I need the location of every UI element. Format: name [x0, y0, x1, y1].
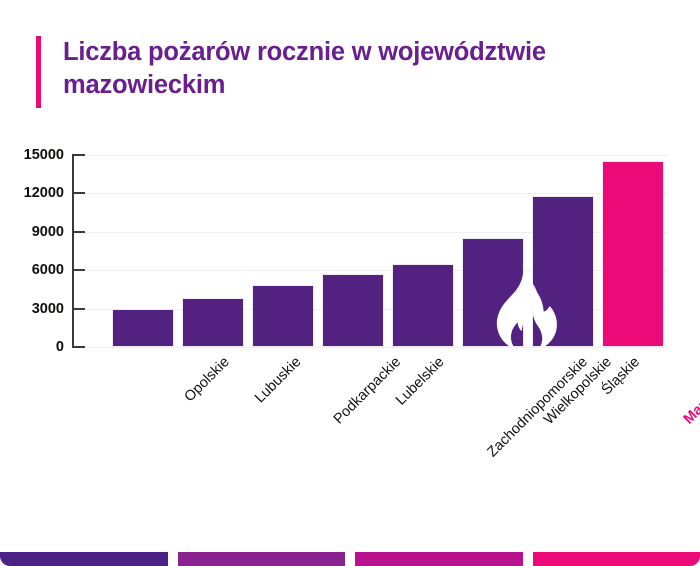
segment-pink — [533, 552, 700, 566]
footer-color-bars — [0, 552, 700, 566]
x-axis-labels: OpolskieLubuskiePodkarpackieLubelskieZac… — [112, 354, 692, 504]
y-tick-mark — [72, 192, 85, 194]
x-tick-label: Zachodniopomorskie — [484, 354, 590, 460]
bar-column[interactable] — [392, 140, 454, 347]
y-axis-labels: 03000600090001200015000 — [0, 140, 64, 520]
bar-column[interactable] — [602, 140, 664, 347]
x-tick-label: Lubuskie — [252, 354, 304, 406]
bar-column[interactable] — [532, 140, 594, 347]
bar-column[interactable] — [322, 140, 384, 347]
y-tick-label: 6000 — [0, 263, 64, 278]
segment-magenta — [355, 552, 523, 566]
bar[interactable] — [532, 196, 594, 347]
x-tick-label: Mazowieckie — [681, 354, 700, 427]
x-tick-label: Opolskie — [182, 354, 233, 405]
bar-column[interactable] — [462, 140, 524, 347]
bar[interactable] — [112, 309, 174, 347]
y-tick-mark — [72, 308, 85, 310]
bar-column[interactable] — [112, 140, 174, 347]
page-title: Liczba pożarów rocznie w województwie ma… — [41, 36, 656, 108]
segment-dark-purple — [0, 552, 168, 566]
y-axis-line — [72, 155, 74, 347]
bar[interactable] — [252, 285, 314, 347]
bar-column[interactable] — [182, 140, 244, 347]
gridline — [85, 347, 668, 348]
bar[interactable] — [392, 264, 454, 347]
chart-card: Liczba pożarów rocznie w województwie ma… — [0, 0, 700, 566]
y-tick-label: 3000 — [0, 301, 64, 316]
y-tick-label: 12000 — [0, 186, 64, 201]
y-tick-mark — [72, 346, 85, 348]
y-tick-label: 0 — [0, 340, 64, 355]
bar-column[interactable] — [252, 140, 314, 347]
y-tick-mark — [72, 154, 85, 156]
bar[interactable] — [462, 238, 524, 347]
bar-chart: 03000600090001200015000 OpolskieLubuskie… — [0, 140, 700, 520]
x-tick-label: Podkarpackie — [331, 354, 404, 427]
bar[interactable] — [182, 298, 244, 347]
y-tick-label: 9000 — [0, 225, 64, 240]
y-tick-label: 15000 — [0, 148, 64, 163]
title-block: Liczba pożarów rocznie w województwie ma… — [36, 36, 656, 108]
y-tick-mark — [72, 269, 85, 271]
y-tick-mark — [72, 231, 85, 233]
bar[interactable] — [602, 161, 664, 347]
bar[interactable] — [322, 274, 384, 347]
segment-purple — [178, 552, 346, 566]
bar-series — [112, 140, 656, 347]
